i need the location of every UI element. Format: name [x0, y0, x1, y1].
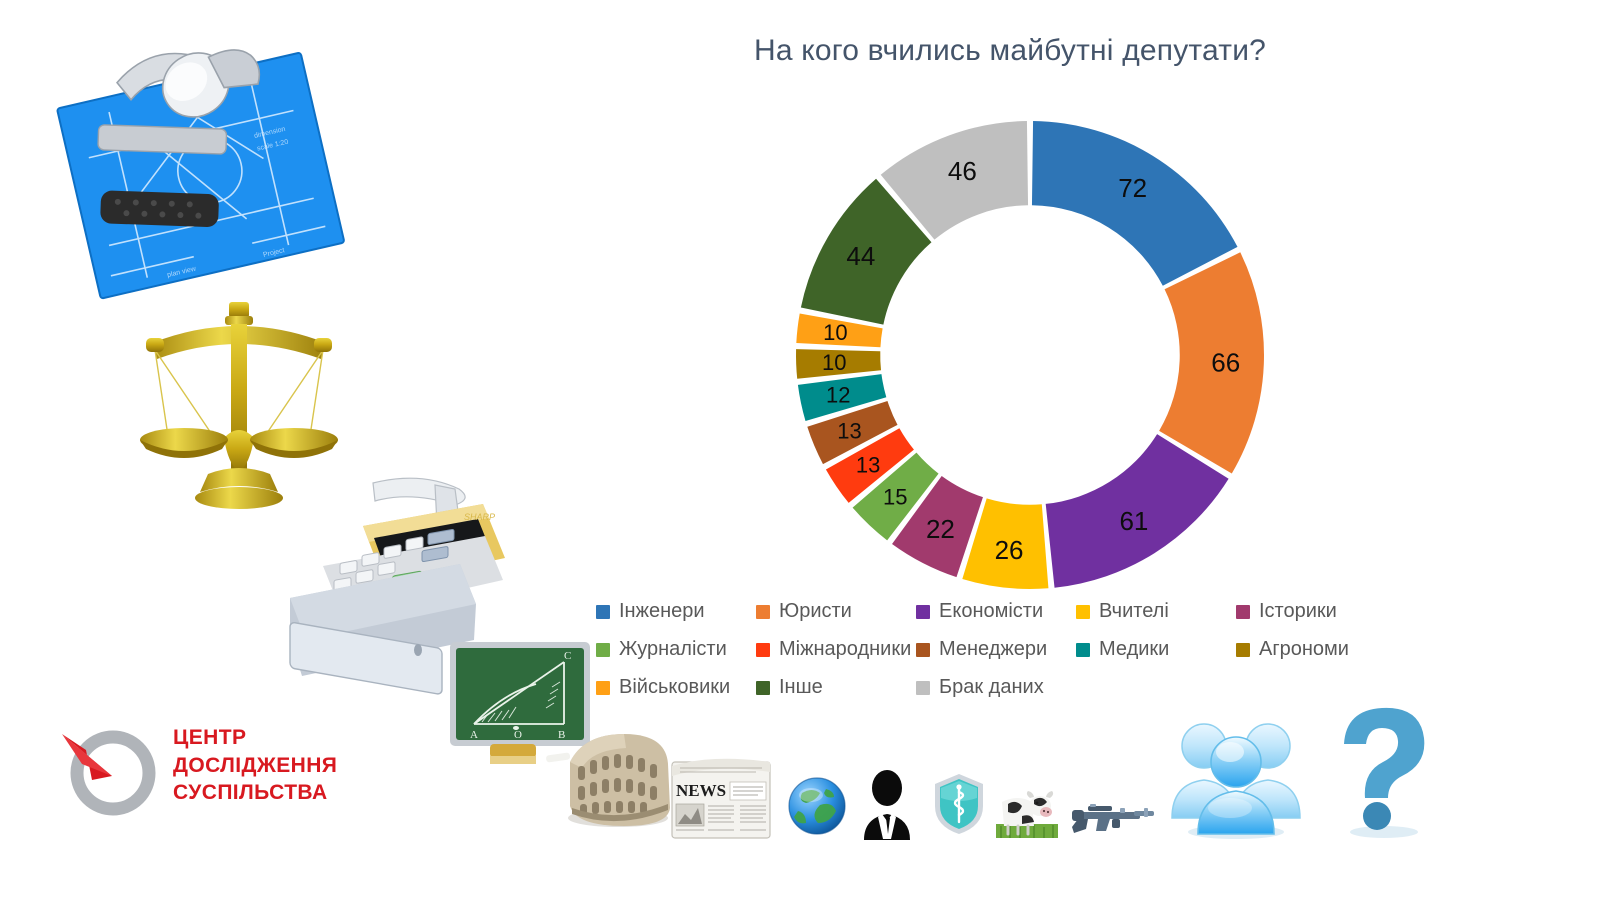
legend-item-label: Юристи: [779, 600, 852, 623]
legend-item-label: Історики: [1259, 600, 1337, 623]
donut-slice-group: [796, 121, 1264, 589]
donut-slice-value: 12: [826, 383, 850, 408]
svg-text:O: O: [514, 729, 522, 741]
legend-item[interactable]: Менеджери: [916, 638, 1076, 661]
donut-chart-svg: 72666126221513131210104446: [780, 105, 1280, 605]
legend-item[interactable]: Економісти: [916, 600, 1076, 623]
donut-slice-value: 72: [1118, 173, 1147, 203]
logo-line-3: СУСПІЛЬСТВА: [173, 779, 337, 807]
legend-item-label: Журналісти: [619, 638, 727, 661]
logo-line-2: ДОСЛІДЖЕННЯ: [173, 752, 337, 780]
legend-color-swatch: [756, 643, 770, 657]
donut-slice-value: 13: [837, 418, 861, 443]
legend-item-label: Агрономи: [1259, 638, 1349, 661]
chart-legend: ІнженериЮристиЕкономістиВчителіІсторикиЖ…: [596, 600, 1396, 699]
cow-icon: [996, 788, 1058, 838]
globe-icon: [786, 775, 848, 837]
legend-color-swatch: [756, 605, 770, 619]
donut-slice-value: 10: [823, 320, 847, 345]
page-title: На кого вчились майбутні депутати?: [700, 34, 1320, 68]
logo-ring-arrow-icon: [60, 720, 160, 820]
legend-item[interactable]: Військовики: [596, 676, 756, 699]
legend-item-label: Медики: [1099, 638, 1169, 661]
logo-wordmark: ЦЕНТР ДОСЛІДЖЕННЯ СУСПІЛЬСТВА: [173, 724, 337, 807]
legend-color-swatch: [596, 605, 610, 619]
legend-item[interactable]: Інженери: [596, 600, 756, 623]
legend-item[interactable]: Юристи: [756, 600, 916, 623]
legend-item-label: Менеджери: [939, 638, 1047, 661]
colosseum-icon: [560, 722, 675, 832]
legend-item[interactable]: Агрономи: [1236, 638, 1396, 661]
legend-item-label: Інженери: [619, 600, 705, 623]
businessman-icon: [856, 768, 918, 840]
svg-text:C: C: [564, 650, 571, 662]
donut-slice-value: 46: [948, 156, 977, 186]
newspaper-icon: NEWS: [668, 752, 776, 842]
blueprint-hammer-icon: dimension scale 1:20 plan view Project: [55, 22, 355, 297]
legend-item[interactable]: Інше: [756, 676, 916, 699]
legend-color-swatch: [1076, 643, 1090, 657]
logo-line-1: ЦЕНТР: [173, 724, 337, 752]
legend-color-swatch: [916, 643, 930, 657]
legend-color-swatch: [916, 605, 930, 619]
legend-color-swatch: [916, 681, 930, 695]
medical-shield-icon: [932, 772, 986, 836]
legend-color-swatch: [756, 681, 770, 695]
newspaper-masthead-text: NEWS: [676, 781, 726, 800]
legend-color-swatch: [1076, 605, 1090, 619]
infographic-canvas: На кого вчились майбутні депутати? 72666…: [0, 0, 1600, 900]
legend-item[interactable]: Вчителі: [1076, 600, 1236, 623]
donut-slice-value: 61: [1119, 506, 1148, 536]
donut-slice[interactable]: [1032, 121, 1238, 286]
legend-item[interactable]: Історики: [1236, 600, 1396, 623]
legend-item-label: Вчителі: [1099, 600, 1169, 623]
legend-item[interactable]: Медики: [1076, 638, 1236, 661]
legend-item-label: Інше: [779, 676, 823, 699]
svg-text:A: A: [470, 729, 478, 741]
organization-logo: ЦЕНТР ДОСЛІДЖЕННЯ СУСПІЛЬСТВА: [60, 712, 360, 842]
rifle-icon: [1068, 796, 1156, 838]
donut-slice-value: 22: [926, 514, 955, 544]
question-mark-icon: [1330, 706, 1430, 840]
donut-slice-value: 44: [846, 241, 875, 271]
legend-item[interactable]: Журналісти: [596, 638, 756, 661]
legend-color-swatch: [1236, 605, 1250, 619]
svg-text:SHARP: SHARP: [464, 512, 495, 522]
legend-item-label: Брак даних: [939, 676, 1044, 699]
donut-chart: 72666126221513131210104446: [780, 105, 1280, 605]
legend-item[interactable]: Брак даних: [916, 676, 1076, 699]
donut-slice-value: 26: [995, 535, 1024, 565]
donut-slice-value: 66: [1211, 348, 1240, 378]
donut-slice-value: 13: [856, 453, 880, 478]
donut-slice-value: 10: [822, 350, 846, 375]
users-group-icon: [1168, 712, 1304, 840]
legend-item-label: Міжнародники: [779, 638, 911, 661]
legend-item[interactable]: Міжнародники: [756, 638, 916, 661]
donut-slice-value: 15: [883, 485, 907, 510]
legend-item-label: Військовики: [619, 676, 730, 699]
legend-item-label: Економісти: [939, 600, 1043, 623]
legend-color-swatch: [1236, 643, 1250, 657]
